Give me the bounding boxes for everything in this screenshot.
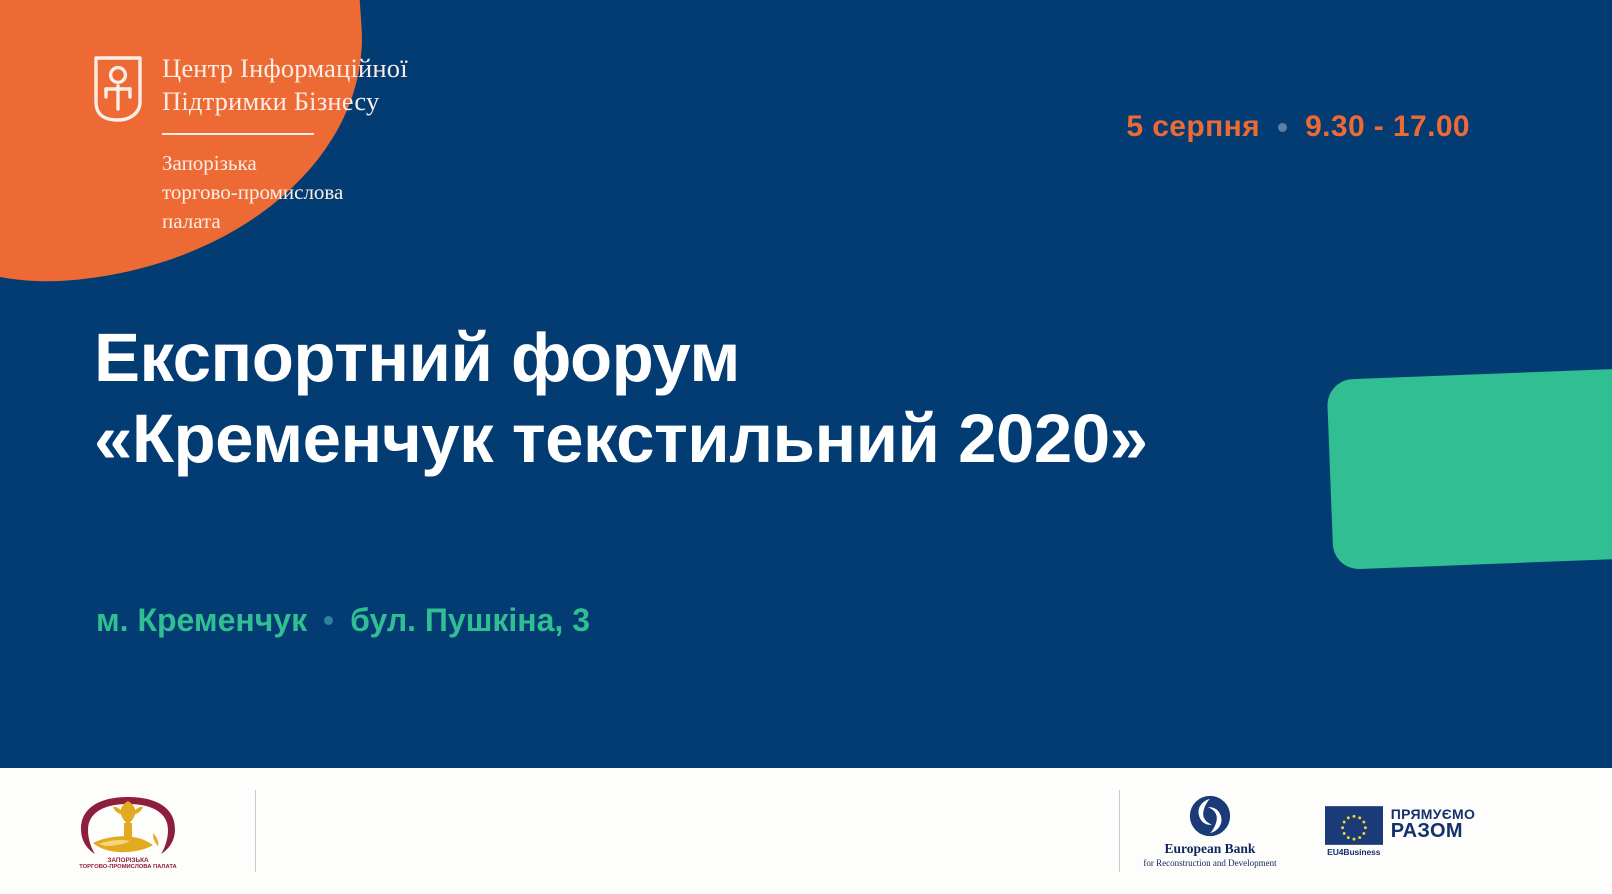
svg-text:ТОРГОВО-ПРОМИСЛОВА ПАЛАТА: ТОРГОВО-ПРОМИСЛОВА ПАЛАТА xyxy=(79,864,177,869)
business-support-person-icon xyxy=(92,52,144,126)
ebrd-logo: European Bank for Reconstruction and Dev… xyxy=(1143,793,1276,870)
ebrd-mark-icon xyxy=(1187,793,1233,839)
eu-flag-column: EU4Business xyxy=(1325,806,1383,857)
logo-text-column: Центр Інформаційної Підтримки Бізнесу За… xyxy=(162,52,408,236)
venue-address: бул. Пушкіна, 3 xyxy=(350,602,590,639)
logo-divider xyxy=(162,133,314,135)
eu4business-slot: EU4Business ПРЯМУЄМО РАЗОМ xyxy=(1300,768,1500,894)
logo-title: Центр Інформаційної Підтримки Бізнесу xyxy=(162,52,408,119)
venue-city: м. Кременчук xyxy=(96,602,307,639)
eu-slogan: ПРЯМУЄМО РАЗОМ xyxy=(1391,806,1475,842)
bullet-separator-icon xyxy=(1278,123,1287,132)
partner-footer: ЗАПОРІЗЬКА ТОРГОВО-ПРОМИСЛОВА ПАЛАТА Eur… xyxy=(0,768,1612,894)
bullet-separator-icon xyxy=(324,616,333,625)
banner-stage: Центр Інформаційної Підтримки Бізнесу За… xyxy=(0,0,1612,768)
eu-slogan-line-1: ПРЯМУЄМО xyxy=(1391,807,1475,821)
footer-divider xyxy=(255,790,256,872)
event-time: 9.30 - 17.00 xyxy=(1305,110,1470,144)
green-decorative-shape xyxy=(1327,364,1612,570)
event-datetime: 5 серпня 9.30 - 17.00 xyxy=(1126,110,1470,144)
european-union-flag-icon xyxy=(1325,806,1383,845)
ebrd-slot: European Bank for Reconstruction and Dev… xyxy=(1120,768,1300,894)
event-venue: м. Кременчук бул. Пушкіна, 3 xyxy=(96,602,590,639)
eu-slogan-line-2: РАЗОМ xyxy=(1391,821,1475,841)
event-date: 5 серпня xyxy=(1126,110,1260,144)
chamber-of-commerce-slot: ЗАПОРІЗЬКА ТОРГОВО-ПРОМИСЛОВА ПАЛАТА xyxy=(0,768,255,894)
ebrd-subtitle: for Reconstruction and Development xyxy=(1143,859,1276,869)
organization-logo: Центр Інформаційної Підтримки Бізнесу За… xyxy=(92,52,408,236)
logo-subtitle: Запорізька торгово-промислова палата xyxy=(162,149,408,236)
page-title: Експортний форум «Кременчук текстильний … xyxy=(94,318,1148,479)
event-banner: Центр Інформаційної Підтримки Бізнесу За… xyxy=(0,0,1612,894)
eu4business-label: EU4Business xyxy=(1327,847,1380,857)
svg-text:ЗАПОРІЗЬКА: ЗАПОРІЗЬКА xyxy=(107,857,149,864)
ebrd-name: European Bank xyxy=(1165,842,1256,857)
eu4business-logo: EU4Business ПРЯМУЄМО РАЗОМ xyxy=(1325,806,1475,857)
zaporizhzhia-chamber-of-commerce-logo: ЗАПОРІЗЬКА ТОРГОВО-ПРОМИСЛОВА ПАЛАТА xyxy=(69,793,187,869)
